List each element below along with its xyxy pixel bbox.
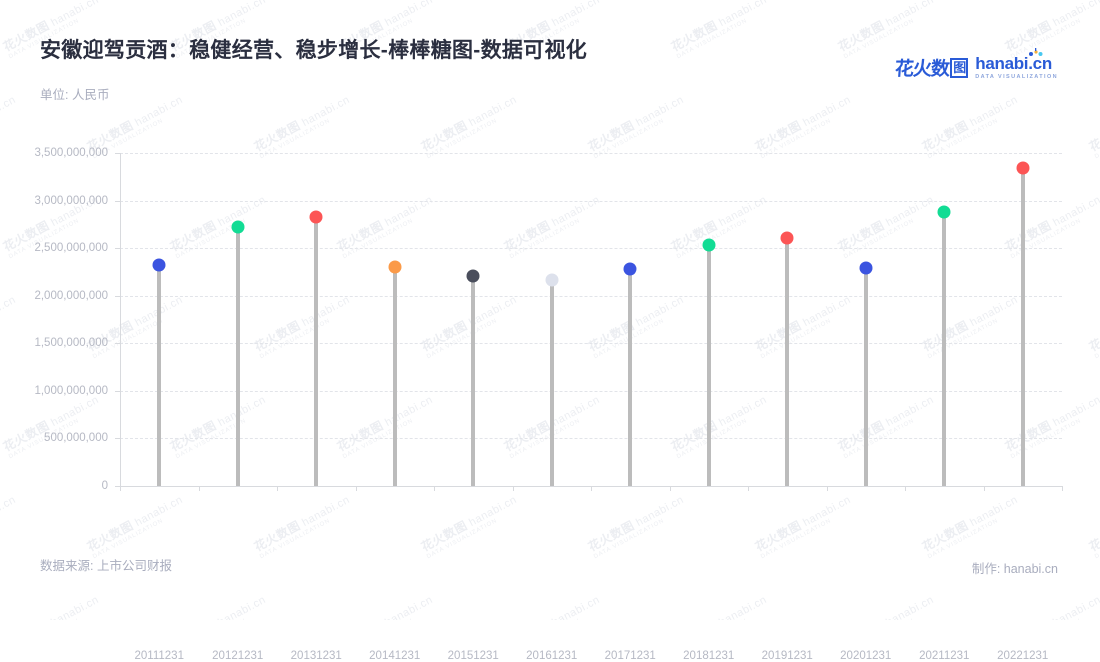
lollipop-point[interactable] (702, 239, 715, 252)
y-tick-label: 1,000,000,000 (34, 385, 108, 397)
x-tick-mark (277, 486, 278, 491)
lollipop-point[interactable] (153, 259, 166, 272)
brand-char-4: 图 (950, 58, 968, 78)
watermark-tile: 花火数图 hanabi.cnDATA VISUALIZATION (334, 590, 438, 620)
x-tick-label: 20171231 (605, 650, 656, 662)
watermark-tile: 花火数图 hanabi.cnDATA VISUALIZATION (919, 90, 1023, 160)
watermark-tile: 花火数图 hanabi.cnDATA VISUALIZATION (0, 590, 104, 620)
lollipop-point[interactable] (467, 269, 480, 282)
watermark-tile: 花火数图 hanabi.cnDATA VISUALIZATION (1002, 590, 1100, 620)
lollipop-stem (628, 269, 632, 486)
lollipop-stem (393, 267, 397, 486)
sparkle-icon (1028, 48, 1044, 57)
chart-canvas: 花火数图 hanabi.cnDATA VISUALIZATION花火数图 han… (0, 0, 1100, 620)
x-tick-label: 20161231 (526, 650, 577, 662)
x-tick-mark (984, 486, 985, 491)
lollipop-stem (1021, 168, 1025, 486)
brand-char-2: 火 (912, 54, 932, 81)
watermark-tile: 花火数图 hanabi.cnDATA VISUALIZATION (167, 590, 271, 620)
watermark-tile: 花火数图 hanabi.cnDATA VISUALIZATION (0, 290, 21, 360)
lollipop-point[interactable] (938, 205, 951, 218)
watermark-tile: 花火数图 hanabi.cnDATA VISUALIZATION (585, 490, 689, 560)
watermark-tile: 花火数图 hanabi.cnDATA VISUALIZATION (418, 90, 522, 160)
y-gridline (120, 391, 1062, 392)
lollipop-stem (785, 238, 789, 486)
lollipop-stem (236, 227, 240, 486)
watermark-tile: 花火数图 hanabi.cnDATA VISUALIZATION (835, 590, 939, 620)
y-gridline (120, 201, 1062, 202)
brand-tagline: DATA VISUALIZATION (975, 75, 1058, 81)
y-tick-label: 2,500,000,000 (34, 242, 108, 254)
x-tick-mark (434, 486, 435, 491)
x-tick-label: 20221231 (997, 650, 1048, 662)
x-tick-mark (905, 486, 906, 491)
page-title: 安徽迎驾贡酒：稳健经营、稳步增长-棒棒糖图-数据可视化 (40, 34, 587, 64)
x-tick-mark (199, 486, 200, 491)
brand-char-3: 数 (930, 54, 950, 81)
lollipop-stem (471, 276, 475, 486)
lollipop-stem (707, 245, 711, 486)
y-tick-label: 0 (102, 480, 108, 492)
lollipop-point[interactable] (859, 262, 872, 275)
y-gridline (120, 153, 1062, 154)
watermark-tile: 花火数图 hanabi.cnDATA VISUALIZATION (668, 590, 772, 620)
watermark-tile: 花火数图 hanabi.cnDATA VISUALIZATION (84, 490, 188, 560)
x-tick-label: 20131231 (291, 650, 342, 662)
y-tick-label: 2,000,000,000 (34, 290, 108, 302)
y-gridline (120, 438, 1062, 439)
brand-char-1: 花 (894, 54, 914, 81)
lollipop-point[interactable] (624, 262, 637, 275)
plot-area: 0500,000,0001,000,000,0001,500,000,0002,… (120, 153, 1062, 486)
watermark-tile: 花火数图 hanabi.cnDATA VISUALIZATION (0, 490, 21, 560)
watermark-tile: 花火数图 hanabi.cnDATA VISUALIZATION (0, 390, 104, 460)
watermark-tile: 花火数图 hanabi.cnDATA VISUALIZATION (251, 90, 355, 160)
x-tick-mark (670, 486, 671, 491)
lollipop-point[interactable] (310, 210, 323, 223)
watermark-tile: 花火数图 hanabi.cnDATA VISUALIZATION (251, 490, 355, 560)
y-gridline (120, 248, 1062, 249)
x-tick-label: 20111231 (135, 650, 184, 662)
x-tick-label: 20201231 (840, 650, 891, 662)
y-axis-line (120, 153, 121, 486)
watermark-tile: 花火数图 hanabi.cnDATA VISUALIZATION (1086, 90, 1100, 160)
axis-unit-label: 单位: 人民币 (40, 86, 120, 104)
x-tick-mark (513, 486, 514, 491)
watermark-tile: 花火数图 hanabi.cnDATA VISUALIZATION (1086, 290, 1100, 360)
lollipop-stem (550, 280, 554, 486)
watermark-tile: 花火数图 hanabi.cnDATA VISUALIZATION (0, 90, 21, 160)
data-source-note: 数据来源: 上市公司财报 (40, 556, 225, 576)
lollipop-stem (314, 217, 318, 486)
x-tick-mark (748, 486, 749, 491)
y-tick-label: 1,500,000,000 (34, 337, 108, 349)
x-tick-mark (120, 486, 121, 491)
watermark-tile: 花火数图 hanabi.cnDATA VISUALIZATION (752, 90, 856, 160)
lollipop-stem (864, 268, 868, 486)
x-tick-mark (591, 486, 592, 491)
brand-name-cn: 花 火 数 图 (895, 54, 968, 81)
lollipop-point[interactable] (781, 231, 794, 244)
watermark-tile: 花火数图 hanabi.cnDATA VISUALIZATION (668, 0, 772, 60)
x-tick-label: 20151231 (448, 650, 499, 662)
brand-wordmark: hanabi.cn DATA VISUALIZATION (975, 55, 1058, 81)
lollipop-stem (157, 265, 161, 486)
x-tick-label: 20121231 (212, 650, 263, 662)
x-tick-label: 20181231 (683, 650, 734, 662)
y-tick-label: 500,000,000 (44, 432, 108, 444)
x-tick-label: 20141231 (369, 650, 420, 662)
x-tick-mark (1062, 486, 1063, 491)
x-tick-mark (356, 486, 357, 491)
brand-logo: 花 火 数 图 hanabi.cn DATA VISUALIZATION (895, 54, 1058, 81)
y-tick-label: 3,500,000,000 (34, 147, 108, 159)
y-tick-label: 3,000,000,000 (34, 195, 108, 207)
watermark-tile: 花火数图 hanabi.cnDATA VISUALIZATION (418, 490, 522, 560)
lollipop-point[interactable] (388, 261, 401, 274)
watermark-tile: 花火数图 hanabi.cnDATA VISUALIZATION (835, 0, 939, 60)
brand-domain: hanabi.cn (975, 55, 1058, 72)
x-tick-label: 20211231 (919, 650, 969, 662)
x-tick-mark (827, 486, 828, 491)
y-gridline (120, 296, 1062, 297)
lollipop-point[interactable] (231, 221, 244, 234)
watermark-tile: 花火数图 hanabi.cnDATA VISUALIZATION (1086, 490, 1100, 560)
watermark-tile: 花火数图 hanabi.cnDATA VISUALIZATION (585, 90, 689, 160)
watermark-tile: 花火数图 hanabi.cnDATA VISUALIZATION (501, 590, 605, 620)
credit-note: 制作: hanabi.cn (972, 558, 1058, 577)
lollipop-stem (942, 212, 946, 486)
watermark-tile: 花火数图 hanabi.cnDATA VISUALIZATION (919, 490, 1023, 560)
x-tick-label: 20191231 (762, 650, 813, 662)
watermark-tile: 花火数图 hanabi.cnDATA VISUALIZATION (752, 490, 856, 560)
y-gridline (120, 343, 1062, 344)
watermark-tile: 花火数图 hanabi.cnDATA VISUALIZATION (1002, 0, 1100, 60)
lollipop-point[interactable] (545, 274, 558, 287)
lollipop-point[interactable] (1016, 162, 1029, 175)
